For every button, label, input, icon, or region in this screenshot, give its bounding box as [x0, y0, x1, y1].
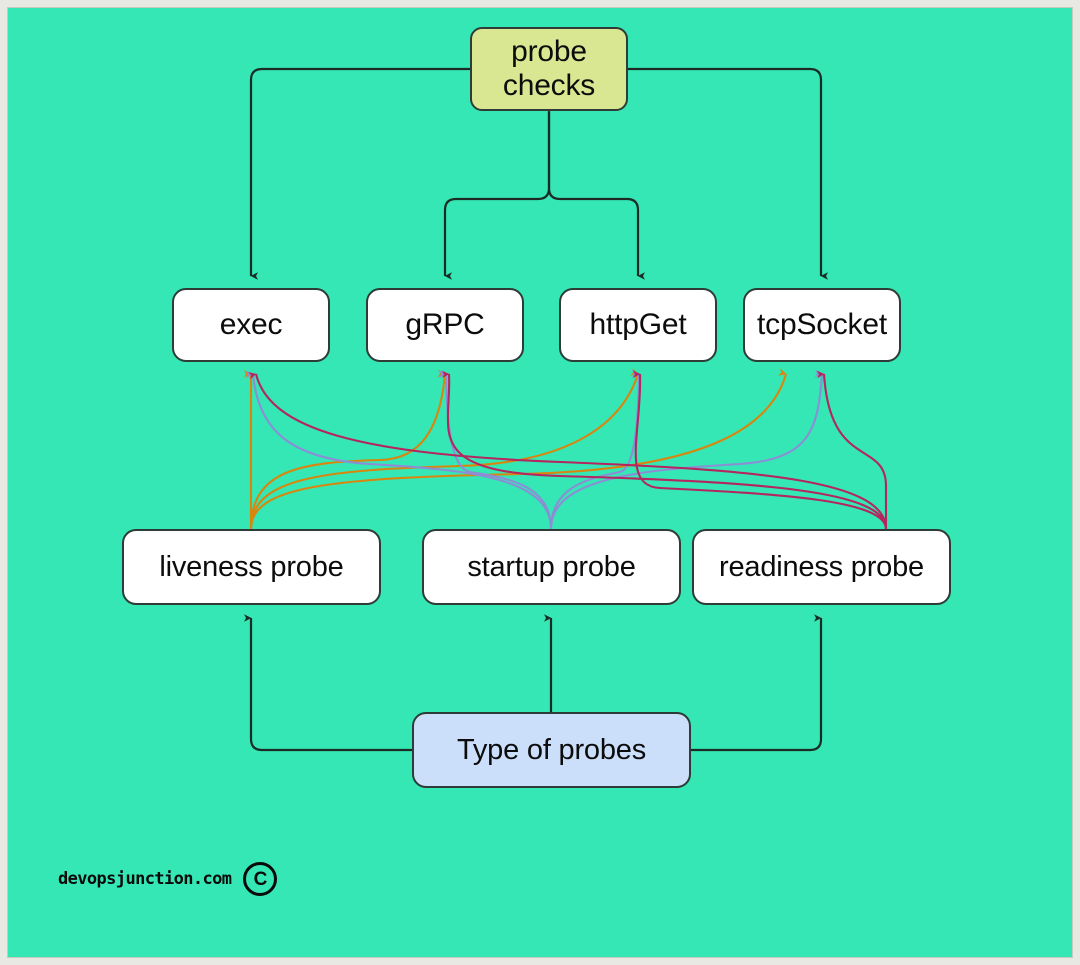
- node-httpget-label: httpGet: [590, 308, 687, 342]
- copyright-icon: C: [243, 862, 277, 896]
- edge-group-startup: [253, 374, 822, 529]
- node-probe-checks-line1: probe: [511, 35, 587, 68]
- node-liveness-probe[interactable]: liveness probe: [122, 529, 381, 605]
- node-probe-checks-line2: checks: [503, 69, 595, 102]
- node-grpc[interactable]: gRPC: [366, 288, 524, 362]
- edge-type-to-liveness: [251, 618, 412, 750]
- node-startup-probe-label: startup probe: [467, 551, 635, 583]
- edge-startup-to-httpget: [551, 374, 639, 529]
- edge-startup-to-grpc: [446, 374, 551, 529]
- node-type-of-probes-label: Type of probes: [457, 734, 646, 766]
- node-grpc-label: gRPC: [405, 308, 484, 342]
- edge-startup-to-tcpsocket: [551, 374, 822, 529]
- edge-startup-to-exec: [253, 374, 551, 529]
- node-readiness-probe-label: readiness probe: [719, 551, 924, 583]
- node-httpget[interactable]: httpGet: [559, 288, 717, 362]
- edge-readiness-to-httpget: [636, 374, 886, 529]
- node-probe-checks[interactable]: probe checks: [470, 27, 628, 111]
- node-startup-probe[interactable]: startup probe: [422, 529, 681, 605]
- node-liveness-probe-label: liveness probe: [159, 551, 343, 583]
- node-readiness-probe[interactable]: readiness probe: [692, 529, 951, 605]
- edge-readiness-to-tcpsocket: [824, 374, 886, 529]
- node-tcpsocket-label: tcpSocket: [757, 308, 887, 342]
- node-probe-checks-label: probe checks: [503, 35, 595, 102]
- edge-group-liveness: [251, 374, 786, 529]
- node-exec-label: exec: [220, 308, 283, 342]
- edge-probe-checks-to-tcpsocket: [628, 69, 821, 276]
- node-type-of-probes[interactable]: Type of probes: [412, 712, 691, 788]
- edge-liveness-to-tcpsocket: [251, 374, 786, 529]
- node-tcpsocket[interactable]: tcpSocket: [743, 288, 901, 362]
- diagram-edges: [0, 0, 1080, 965]
- watermark: devopsjunction.com C: [58, 862, 277, 896]
- watermark-text: devopsjunction.com: [58, 869, 231, 889]
- edge-type-to-readiness: [691, 618, 821, 750]
- node-exec[interactable]: exec: [172, 288, 330, 362]
- edge-probe-checks-to-grpc: [445, 111, 549, 276]
- edge-probe-checks-to-httpget: [549, 111, 638, 276]
- edge-probe-checks-to-exec: [251, 69, 470, 276]
